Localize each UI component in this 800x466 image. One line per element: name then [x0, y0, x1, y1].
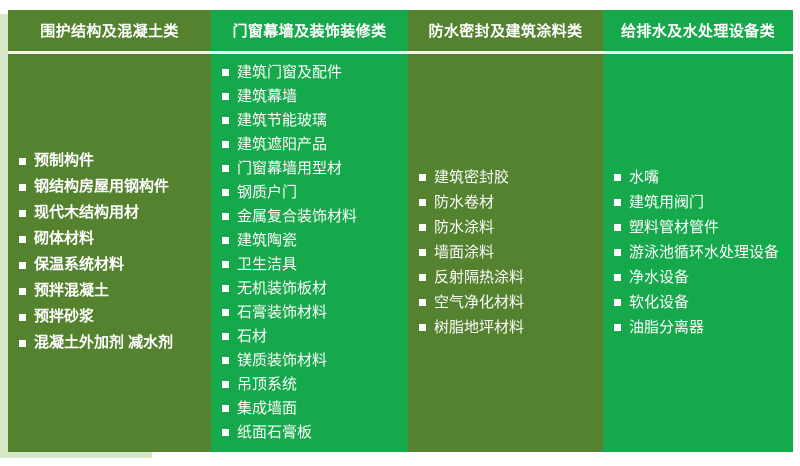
list-item-label: 集成墙面 [237, 400, 297, 417]
list-item-label: 建筑节能玻璃 [237, 112, 327, 129]
list-item[interactable]: 镁质装饰材料 [221, 349, 402, 372]
list-item[interactable]: 建筑用阀门 [613, 191, 787, 214]
category-column-waterproof-sealing-coating: 防水密封及建筑涂料类 建筑密封胶 防水卷材 防水涂料 墙面涂料 反射隔热涂料 空… [408, 10, 603, 452]
list-item-label: 建筑陶瓷 [237, 232, 297, 249]
square-bullet-icon [222, 309, 229, 316]
list-item[interactable]: 现代木结构用材 [18, 201, 205, 224]
list-item[interactable]: 纸面石膏板 [221, 421, 402, 444]
column-header-waterproof-sealing-coating: 防水密封及建筑涂料类 [408, 10, 603, 51]
square-bullet-icon [614, 299, 621, 306]
list-item-label: 门窗幕墙用型材 [237, 160, 342, 177]
item-list-enclosure-concrete: 预制构件 钢结构房屋用钢构件 现代木结构用材 砌体材料 保温系统材料 预拌混凝土… [18, 149, 205, 357]
list-item[interactable]: 混凝土外加剂 减水剂 [18, 331, 205, 354]
square-bullet-icon [19, 210, 26, 217]
item-list-waterproof-sealing-coating: 建筑密封胶 防水卷材 防水涂料 墙面涂料 反射隔热涂料 空气净化材料 树脂地坪材… [418, 166, 597, 341]
list-item[interactable]: 无机装饰板材 [221, 277, 402, 300]
list-item[interactable]: 防水卷材 [418, 191, 597, 214]
square-bullet-icon [222, 357, 229, 364]
list-item-label: 净水设备 [629, 269, 689, 286]
square-bullet-icon [614, 199, 621, 206]
square-bullet-icon [19, 184, 26, 191]
list-item-label: 砌体材料 [34, 230, 94, 247]
list-item[interactable]: 建筑陶瓷 [221, 229, 402, 252]
item-list-water-supply-drainage-treatment: 水嘴 建筑用阀门 塑料管材管件 游泳池循环水处理设备 净水设备 软化设备 油脂分… [613, 166, 787, 341]
list-item[interactable]: 防水涂料 [418, 216, 597, 239]
list-item-label: 游泳池循环水处理设备 [629, 244, 779, 261]
list-item[interactable]: 预拌砂浆 [18, 305, 205, 328]
list-item-label: 钢结构房屋用钢构件 [34, 178, 169, 195]
square-bullet-icon [614, 224, 621, 231]
list-item[interactable]: 石膏装饰材料 [221, 301, 402, 324]
category-column-enclosure-concrete: 围护结构及混凝土类 预制构件 钢结构房屋用钢构件 现代木结构用材 砌体材料 保温… [8, 10, 211, 452]
square-bullet-icon [614, 274, 621, 281]
list-item-label: 金属复合装饰材料 [237, 208, 357, 225]
list-item-label: 钢质户门 [237, 184, 297, 201]
list-item[interactable]: 预拌混凝土 [18, 279, 205, 302]
list-item[interactable]: 预制构件 [18, 149, 205, 172]
list-item-label: 石膏装饰材料 [237, 304, 327, 321]
item-list-door-window-curtainwall-decoration: 建筑门窗及配件 建筑幕墙 建筑节能玻璃 建筑遮阳产品 门窗幕墙用型材 钢质户门 … [221, 61, 402, 445]
list-item-label: 建筑用阀门 [629, 194, 704, 211]
list-item[interactable]: 保温系统材料 [18, 253, 205, 276]
column-header-enclosure-concrete: 围护结构及混凝土类 [8, 10, 211, 51]
list-item-label: 建筑门窗及配件 [237, 64, 342, 81]
list-item[interactable]: 反射隔热涂料 [418, 266, 597, 289]
list-item[interactable]: 卫生洁具 [221, 253, 402, 276]
square-bullet-icon [222, 237, 229, 244]
category-panel: 围护结构及混凝土类 预制构件 钢结构房屋用钢构件 现代木结构用材 砌体材料 保温… [8, 10, 793, 452]
list-item[interactable]: 吊顶系统 [221, 373, 402, 396]
list-item-label: 树脂地坪材料 [434, 319, 524, 336]
list-item[interactable]: 建筑节能玻璃 [221, 109, 402, 132]
list-item[interactable]: 金属复合装饰材料 [221, 205, 402, 228]
list-item-label: 防水卷材 [434, 194, 494, 211]
list-item[interactable]: 油脂分离器 [613, 316, 787, 339]
list-item-label: 塑料管材管件 [629, 219, 719, 236]
list-item-label: 混凝土外加剂 减水剂 [34, 334, 173, 351]
list-item-label: 空气净化材料 [434, 294, 524, 311]
square-bullet-icon [222, 429, 229, 436]
list-item-label: 建筑密封胶 [434, 169, 509, 186]
list-item-label: 吊顶系统 [237, 376, 297, 393]
list-item[interactable]: 建筑遮阳产品 [221, 133, 402, 156]
list-item-label: 软化设备 [629, 294, 689, 311]
square-bullet-icon [614, 174, 621, 181]
list-item-label: 预拌砂浆 [34, 308, 94, 325]
square-bullet-icon [19, 236, 26, 243]
list-item[interactable]: 树脂地坪材料 [418, 316, 597, 339]
list-item[interactable]: 软化设备 [613, 291, 787, 314]
list-item-label: 油脂分离器 [629, 319, 704, 336]
list-item[interactable]: 水嘴 [613, 166, 787, 189]
list-item[interactable]: 墙面涂料 [418, 241, 597, 264]
list-item-label: 纸面石膏板 [237, 424, 312, 441]
column-header-door-window-curtainwall-decoration: 门窗幕墙及装饰装修类 [211, 10, 408, 51]
list-item[interactable]: 塑料管材管件 [613, 216, 787, 239]
category-column-water-supply-drainage-treatment: 给排水及水处理设备类 水嘴 建筑用阀门 塑料管材管件 游泳池循环水处理设备 净水… [603, 10, 793, 452]
square-bullet-icon [19, 314, 26, 321]
list-item-label: 墙面涂料 [434, 244, 494, 261]
square-bullet-icon [419, 299, 426, 306]
square-bullet-icon [222, 165, 229, 172]
square-bullet-icon [222, 117, 229, 124]
square-bullet-icon [222, 381, 229, 388]
list-item[interactable]: 游泳池循环水处理设备 [613, 241, 787, 264]
list-item[interactable]: 钢结构房屋用钢构件 [18, 175, 205, 198]
square-bullet-icon [222, 93, 229, 100]
square-bullet-icon [419, 224, 426, 231]
square-bullet-icon [614, 324, 621, 331]
square-bullet-icon [222, 333, 229, 340]
square-bullet-icon [19, 340, 26, 347]
square-bullet-icon [222, 285, 229, 292]
square-bullet-icon [19, 158, 26, 165]
list-item[interactable]: 空气净化材料 [418, 291, 597, 314]
category-column-door-window-curtainwall-decoration: 门窗幕墙及装饰装修类 建筑门窗及配件 建筑幕墙 建筑节能玻璃 建筑遮阳产品 门窗… [211, 10, 408, 452]
column-body-door-window-curtainwall-decoration: 建筑门窗及配件 建筑幕墙 建筑节能玻璃 建筑遮阳产品 门窗幕墙用型材 钢质户门 … [211, 54, 408, 452]
list-item-label: 保温系统材料 [34, 256, 124, 273]
square-bullet-icon [222, 261, 229, 268]
square-bullet-icon [419, 249, 426, 256]
list-item[interactable]: 净水设备 [613, 266, 787, 289]
list-item-label: 建筑幕墙 [237, 88, 297, 105]
column-body-water-supply-drainage-treatment: 水嘴 建筑用阀门 塑料管材管件 游泳池循环水处理设备 净水设备 软化设备 油脂分… [603, 54, 793, 452]
list-item[interactable]: 建筑门窗及配件 [221, 61, 402, 84]
list-item-label: 防水涂料 [434, 219, 494, 236]
square-bullet-icon [222, 141, 229, 148]
square-bullet-icon [614, 249, 621, 256]
list-item[interactable]: 建筑密封胶 [418, 166, 597, 189]
list-item-label: 无机装饰板材 [237, 280, 327, 297]
column-body-waterproof-sealing-coating: 建筑密封胶 防水卷材 防水涂料 墙面涂料 反射隔热涂料 空气净化材料 树脂地坪材… [408, 54, 603, 452]
list-item-label: 卫生洁具 [237, 256, 297, 273]
list-item-label: 石材 [237, 328, 267, 345]
square-bullet-icon [19, 262, 26, 269]
list-item[interactable]: 石材 [221, 325, 402, 348]
square-bullet-icon [222, 405, 229, 412]
square-bullet-icon [419, 274, 426, 281]
column-body-enclosure-concrete: 预制构件 钢结构房屋用钢构件 现代木结构用材 砌体材料 保温系统材料 预拌混凝土… [8, 54, 211, 452]
list-item-label: 预拌混凝土 [34, 282, 109, 299]
list-item-label: 镁质装饰材料 [237, 352, 327, 369]
list-item-label: 水嘴 [629, 169, 659, 186]
list-item-label: 反射隔热涂料 [434, 269, 524, 286]
list-item-label: 建筑遮阳产品 [237, 136, 327, 153]
list-item-label: 现代木结构用材 [34, 204, 139, 221]
column-header-water-supply-drainage-treatment: 给排水及水处理设备类 [603, 10, 793, 51]
list-item-label: 预制构件 [34, 152, 94, 169]
list-item[interactable]: 门窗幕墙用型材 [221, 157, 402, 180]
square-bullet-icon [222, 189, 229, 196]
square-bullet-icon [419, 324, 426, 331]
square-bullet-icon [419, 199, 426, 206]
list-item[interactable]: 集成墙面 [221, 397, 402, 420]
list-item[interactable]: 钢质户门 [221, 181, 402, 204]
square-bullet-icon [222, 213, 229, 220]
square-bullet-icon [419, 174, 426, 181]
square-bullet-icon [222, 69, 229, 76]
square-bullet-icon [19, 288, 26, 295]
list-item[interactable]: 建筑幕墙 [221, 85, 402, 108]
list-item[interactable]: 砌体材料 [18, 227, 205, 250]
